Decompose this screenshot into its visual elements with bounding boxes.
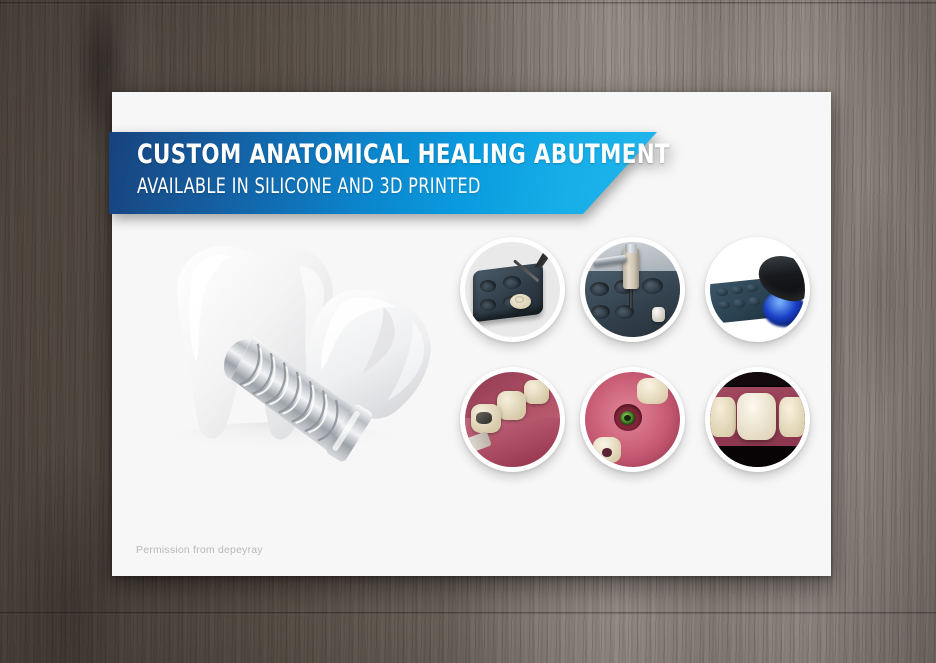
slide-canvas: CUSTOM ANATOMICAL HEALING ABUTMENT AVAIL… (0, 0, 936, 663)
photo-silicone-mold-brush (465, 242, 560, 337)
banner-subtitle: AVAILABLE IN SILICONE AND 3D PRINTED (137, 173, 658, 199)
photo-gallery (449, 237, 829, 505)
gallery-item-intraoral-teeth[interactable] (460, 367, 565, 472)
gallery-item-curing-light[interactable] (705, 237, 810, 342)
banner-title: CUSTOM ANATOMICAL HEALING ABUTMENT (137, 140, 670, 170)
photo-implant-site-healing (585, 372, 680, 467)
photo-intraoral-teeth-gingiva (465, 372, 560, 467)
gallery-item-final-crown[interactable] (705, 367, 810, 472)
presentation-card: CUSTOM ANATOMICAL HEALING ABUTMENT AVAIL… (112, 92, 831, 576)
gallery-item-silicone-mold-brush[interactable] (460, 237, 565, 342)
photo-abutment-driver-on-mold (585, 242, 680, 337)
dental-implant-illustration (132, 232, 462, 502)
photo-final-crown-restoration (710, 372, 805, 467)
permission-credit: Permission from depeyray (136, 544, 263, 556)
gallery-item-implant-site[interactable] (580, 367, 685, 472)
title-banner: CUSTOM ANATOMICAL HEALING ABUTMENT AVAIL… (109, 132, 657, 214)
photo-curing-light-on-mold (710, 242, 805, 337)
gallery-item-abutment-driver[interactable] (580, 237, 685, 342)
